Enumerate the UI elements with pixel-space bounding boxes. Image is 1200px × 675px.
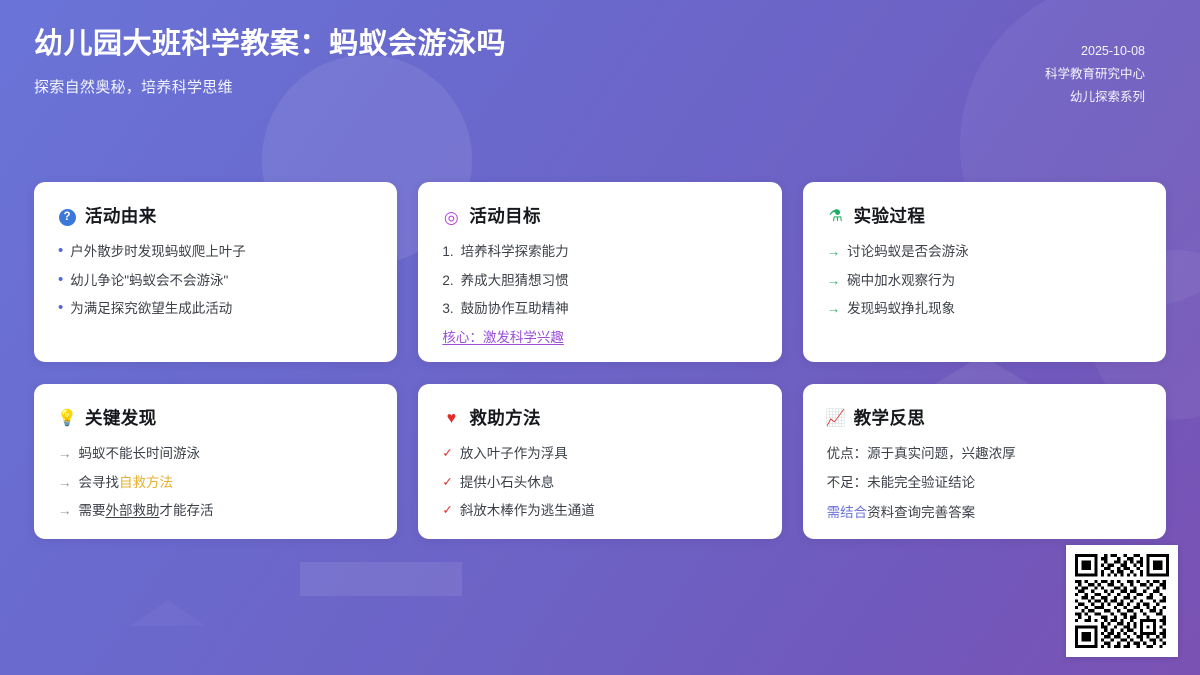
list-item-text: 会寻找自救方法 [79, 473, 374, 493]
card-body: → 讨论蚂蚁是否会游泳 → 碗中加水观察行为 → 发现蚂蚁挣扎现象 [827, 242, 1142, 319]
slide-root: 幼儿园大班科学教案：蚂蚁会游泳吗 探索自然奥秘，培养科学思维 2025-10-0… [0, 0, 1200, 675]
card-title: 实验过程 [854, 208, 926, 226]
list-item-text: 碗中加水观察行为 [847, 271, 1142, 291]
heart-icon: ♥ [442, 410, 460, 428]
list-item-text: 放入叶子作为浮具 [460, 444, 758, 464]
card-body: ✓ 放入叶子作为浮具 ✓ 提供小石头休息 ✓ 斜放木棒作为逃生通道 [442, 444, 757, 521]
list-item: 2. 养成大胆猜想习惯 [442, 271, 757, 291]
text-segment: 才能存活 [160, 503, 214, 518]
list-item: → 需要外部救助才能存活 [58, 501, 373, 521]
card-footer-link-row: 核心：激发科学兴趣 [442, 328, 757, 348]
header-meta: 2025-10-08 科学教育研究中心 幼儿探索系列 [1045, 26, 1145, 109]
card-grid: ? 活动由来 • 户外散步时发现蚂蚁爬上叶子 • 幼儿争论"蚂蚁会不会游泳" •… [34, 182, 1166, 539]
highlight-combine[interactable]: 需结合 [827, 505, 868, 520]
bullet-marker: • [58, 271, 63, 290]
reflection-line: 不足：未能完全验证结论 [827, 473, 1142, 493]
card-header: ? 活动由来 [58, 208, 373, 226]
list-item-text: 户外散步时发现蚂蚁爬上叶子 [70, 242, 373, 262]
card-activity-goals[interactable]: ◎ 活动目标 1. 培养科学探索能力 2. 养成大胆猜想习惯 3. 鼓励协作互助… [418, 182, 781, 362]
card-header: 📈 教学反思 [827, 410, 1142, 428]
qr-code[interactable] [1066, 545, 1178, 657]
page-subtitle: 探索自然奥秘，培养科学思维 [34, 76, 506, 97]
card-rescue-methods[interactable]: ♥ 救助方法 ✓ 放入叶子作为浮具 ✓ 提供小石头休息 ✓ 斜放木棒作为逃生通道 [418, 384, 781, 539]
arrow-marker: → [827, 242, 841, 262]
decorative-triangle-secondary [130, 600, 206, 626]
number-marker: 2. [442, 271, 453, 291]
card-body: • 户外散步时发现蚂蚁爬上叶子 • 幼儿争论"蚂蚁会不会游泳" • 为满足探究欲… [58, 242, 373, 319]
number-marker: 3. [442, 299, 453, 319]
list-item: ✓ 提供小石头休息 [442, 473, 757, 493]
list-item: • 幼儿争论"蚂蚁会不会游泳" [58, 271, 373, 291]
list-item: 3. 鼓励协作互助精神 [442, 299, 757, 319]
card-body: 优点：源于真实问题，兴趣浓厚 不足：未能完全验证结论 需结合资料查询完善答案 [827, 444, 1142, 523]
card-experiment-process[interactable]: ⚗ 实验过程 → 讨论蚂蚁是否会游泳 → 碗中加水观察行为 → 发现蚂蚁挣扎现象 [803, 182, 1166, 362]
slide-header: 幼儿园大班科学教案：蚂蚁会游泳吗 探索自然奥秘，培养科学思维 2025-10-0… [0, 0, 1200, 150]
list-item-text: 鼓励协作互助精神 [461, 299, 758, 319]
arrow-marker: → [58, 501, 72, 521]
reflection-line: 需结合资料查询完善答案 [827, 503, 1142, 523]
card-title: 关键发现 [85, 410, 157, 428]
list-item: → 讨论蚂蚁是否会游泳 [827, 242, 1142, 262]
list-item: → 会寻找自救方法 [58, 473, 373, 493]
header-series: 幼儿探索系列 [1045, 86, 1145, 109]
list-item: → 蚂蚁不能长时间游泳 [58, 444, 373, 464]
list-item-text: 培养科学探索能力 [461, 242, 758, 262]
decorative-rectangle [300, 562, 462, 596]
question-circle-icon: ? [58, 208, 76, 226]
reflection-line: 优点：源于真实问题，兴趣浓厚 [827, 444, 1142, 464]
list-item: → 碗中加水观察行为 [827, 271, 1142, 291]
list-item: 1. 培养科学探索能力 [442, 242, 757, 262]
highlight-external-help[interactable]: 外部救助 [106, 503, 160, 518]
list-item: → 发现蚂蚁挣扎现象 [827, 299, 1142, 319]
core-goal-link[interactable]: 核心：激发科学兴趣 [442, 330, 564, 345]
list-item-text: 幼儿争论"蚂蚁会不会游泳" [70, 271, 373, 291]
bullet-marker: • [58, 242, 63, 261]
card-activity-origin[interactable]: ? 活动由来 • 户外散步时发现蚂蚁爬上叶子 • 幼儿争论"蚂蚁会不会游泳" •… [34, 182, 397, 362]
header-text-block: 幼儿园大班科学教案：蚂蚁会游泳吗 探索自然奥秘，培养科学思维 [34, 26, 506, 97]
list-item-text: 需要外部救助才能存活 [79, 501, 374, 521]
check-marker: ✓ [442, 444, 452, 462]
qr-code-image [1075, 554, 1169, 648]
page-title: 幼儿园大班科学教案：蚂蚁会游泳吗 [34, 26, 506, 62]
card-header: ⚗ 实验过程 [827, 208, 1142, 226]
card-header: 💡 关键发现 [58, 410, 373, 428]
arrow-marker: → [58, 473, 72, 493]
list-item: • 为满足探究欲望生成此活动 [58, 299, 373, 319]
target-icon: ◎ [442, 208, 460, 226]
check-marker: ✓ [442, 473, 452, 491]
highlight-self-rescue[interactable]: 自救方法 [119, 475, 173, 490]
text-segment: 会寻找 [79, 475, 120, 490]
header-date: 2025-10-08 [1045, 40, 1145, 63]
card-header: ♥ 救助方法 [442, 410, 757, 428]
list-item: ✓ 放入叶子作为浮具 [442, 444, 757, 464]
card-header: ◎ 活动目标 [442, 208, 757, 226]
flask-icon: ⚗ [827, 208, 845, 226]
list-item-text: 发现蚂蚁挣扎现象 [847, 299, 1142, 319]
header-organization: 科学教育研究中心 [1045, 63, 1145, 86]
text-segment: 需要 [79, 503, 106, 518]
bullet-marker: • [58, 299, 63, 318]
list-item-text: 为满足探究欲望生成此活动 [70, 299, 373, 319]
card-body: → 蚂蚁不能长时间游泳 → 会寻找自救方法 → 需要外部救助才能存活 [58, 444, 373, 521]
card-title: 活动由来 [85, 208, 157, 226]
check-marker: ✓ [442, 501, 452, 519]
card-title: 救助方法 [469, 410, 541, 428]
text-segment: 资料查询完善答案 [867, 505, 975, 520]
list-item-text: 提供小石头休息 [460, 473, 758, 493]
arrow-marker: → [827, 271, 841, 291]
list-item-text: 蚂蚁不能长时间游泳 [79, 444, 374, 464]
chart-icon: 📈 [827, 410, 845, 428]
list-item-text: 养成大胆猜想习惯 [461, 271, 758, 291]
arrow-marker: → [827, 299, 841, 319]
card-key-findings[interactable]: 💡 关键发现 → 蚂蚁不能长时间游泳 → 会寻找自救方法 → 需要外部救助才能存… [34, 384, 397, 539]
list-item: ✓ 斜放木棒作为逃生通道 [442, 501, 757, 521]
card-teaching-reflection[interactable]: 📈 教学反思 优点：源于真实问题，兴趣浓厚 不足：未能完全验证结论 需结合资料查… [803, 384, 1166, 539]
list-item-text: 讨论蚂蚁是否会游泳 [847, 242, 1142, 262]
card-body: 1. 培养科学探索能力 2. 养成大胆猜想习惯 3. 鼓励协作互助精神 核心：激… [442, 242, 757, 348]
card-title: 活动目标 [469, 208, 541, 226]
number-marker: 1. [442, 242, 453, 262]
list-item-text: 斜放木棒作为逃生通道 [460, 501, 758, 521]
card-title: 教学反思 [854, 410, 926, 428]
list-item: • 户外散步时发现蚂蚁爬上叶子 [58, 242, 373, 262]
arrow-marker: → [58, 444, 72, 464]
lightbulb-icon: 💡 [58, 410, 76, 428]
